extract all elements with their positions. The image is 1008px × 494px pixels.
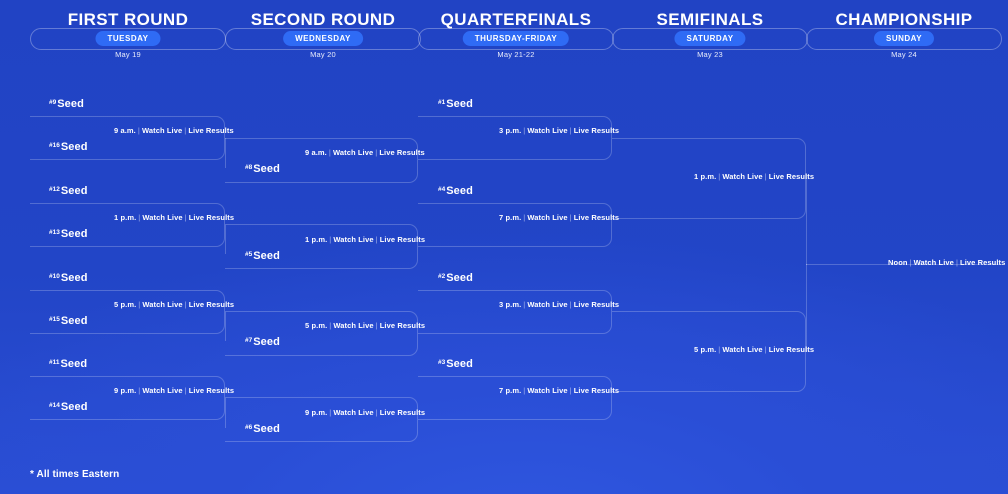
watch-live-link[interactable]: Watch Live bbox=[914, 258, 954, 267]
separator: | bbox=[185, 300, 187, 309]
joiner-r4-m2 bbox=[806, 264, 807, 352]
seed-text: Seed bbox=[61, 272, 88, 284]
round-header-championship: CHAMPIONSHIP SUNDAY May 24 bbox=[806, 10, 1002, 66]
seed-label[interactable]: #4Seed bbox=[438, 184, 473, 197]
match-time: 5 p.m. bbox=[694, 345, 716, 354]
match-info-row: 1 p.m.|Watch Live|Live Results bbox=[305, 235, 425, 245]
separator: | bbox=[375, 148, 377, 157]
separator: | bbox=[329, 235, 331, 244]
match-time: 9 p.m. bbox=[305, 408, 327, 417]
seed-text: Seed bbox=[253, 336, 280, 348]
match-time: 7 p.m. bbox=[499, 213, 521, 222]
separator: | bbox=[138, 213, 140, 222]
seed-number: #8 bbox=[245, 164, 252, 171]
seed-text: Seed bbox=[253, 250, 280, 262]
separator: | bbox=[523, 386, 525, 395]
watch-live-link[interactable]: Watch Live bbox=[142, 126, 182, 135]
match-time: 5 p.m. bbox=[114, 300, 136, 309]
seed-label[interactable]: #2Seed bbox=[438, 271, 473, 284]
match-time: 1 p.m. bbox=[114, 213, 136, 222]
match-time: 3 p.m. bbox=[499, 126, 521, 135]
separator: | bbox=[185, 213, 187, 222]
seed-label[interactable]: #6Seed bbox=[245, 422, 280, 435]
round-headers: FIRST ROUND TUESDAY May 19 SECOND ROUND … bbox=[0, 0, 1008, 66]
separator: | bbox=[329, 408, 331, 417]
round-day-badge: SUNDAY bbox=[874, 31, 934, 46]
live-results-link[interactable]: Live Results bbox=[380, 321, 425, 330]
match-time: 9 a.m. bbox=[305, 148, 327, 157]
match-info-row: 9 p.m.|Watch Live|Live Results bbox=[305, 408, 425, 418]
live-results-link[interactable]: Live Results bbox=[769, 345, 814, 354]
match-bracket-r3-m2 bbox=[418, 203, 612, 247]
separator: | bbox=[184, 126, 186, 135]
separator: | bbox=[523, 213, 525, 222]
separator: | bbox=[570, 213, 572, 222]
match-bracket-r1-m1 bbox=[30, 116, 225, 160]
match-bracket-r2-m4 bbox=[225, 397, 418, 442]
separator: | bbox=[765, 172, 767, 181]
seed-number: #14 bbox=[49, 402, 60, 409]
seed-number: #9 bbox=[49, 99, 56, 106]
seed-number: #5 bbox=[245, 251, 252, 258]
tournament-bracket-page: FIRST ROUND TUESDAY May 19 SECOND ROUND … bbox=[0, 0, 1008, 494]
joiner-r1-m3 bbox=[225, 312, 226, 341]
seed-number: #16 bbox=[49, 142, 60, 149]
round-date: May 21-22 bbox=[497, 50, 534, 60]
match-time: Noon bbox=[888, 258, 908, 267]
seed-label[interactable]: #9Seed bbox=[49, 97, 84, 110]
separator: | bbox=[570, 300, 572, 309]
seed-label[interactable]: #16Seed bbox=[49, 140, 88, 153]
watch-live-link[interactable]: Watch Live bbox=[527, 126, 567, 135]
match-info-row: 5 p.m.|Watch Live|Live Results bbox=[114, 300, 234, 310]
match-info-row: 1 p.m.|Watch Live|Live Results bbox=[114, 213, 234, 223]
seed-label[interactable]: #12Seed bbox=[49, 184, 88, 197]
seed-label[interactable]: #8Seed bbox=[245, 162, 280, 175]
match-bracket-r3-m1 bbox=[418, 116, 612, 160]
watch-live-link[interactable]: Watch Live bbox=[333, 408, 373, 417]
seed-label[interactable]: #14Seed bbox=[49, 400, 88, 413]
live-results-link[interactable]: Live Results bbox=[574, 300, 619, 309]
live-results-link[interactable]: Live Results bbox=[188, 126, 233, 135]
joiner-r4-m1 bbox=[806, 178, 807, 265]
separator: | bbox=[138, 386, 140, 395]
seed-text: Seed bbox=[446, 358, 473, 370]
round-date: May 23 bbox=[697, 50, 723, 60]
separator: | bbox=[138, 300, 140, 309]
separator: | bbox=[376, 235, 378, 244]
seed-text: Seed bbox=[61, 141, 88, 153]
seed-label[interactable]: #13Seed bbox=[49, 227, 88, 240]
live-results-link[interactable]: Live Results bbox=[380, 235, 425, 244]
match-info-row: 3 p.m.|Watch Live|Live Results bbox=[499, 300, 619, 310]
seed-text: Seed bbox=[446, 98, 473, 110]
separator: | bbox=[523, 126, 525, 135]
live-results-link[interactable]: Live Results bbox=[189, 300, 234, 309]
watch-live-link[interactable]: Watch Live bbox=[142, 213, 182, 222]
watch-live-link[interactable]: Watch Live bbox=[333, 235, 373, 244]
round-header-quarterfinals: QUARTERFINALS THURSDAY-FRIDAY May 21-22 bbox=[418, 10, 614, 66]
seed-label[interactable]: #7Seed bbox=[245, 335, 280, 348]
live-results-link[interactable]: Live Results bbox=[379, 148, 424, 157]
seed-text: Seed bbox=[57, 98, 84, 110]
watch-live-link[interactable]: Watch Live bbox=[527, 300, 567, 309]
round-date: May 24 bbox=[891, 50, 917, 60]
round-title: QUARTERFINALS bbox=[434, 10, 599, 29]
seed-label[interactable]: #15Seed bbox=[49, 314, 88, 327]
watch-live-link[interactable]: Watch Live bbox=[527, 386, 567, 395]
separator: | bbox=[910, 258, 912, 267]
seed-text: Seed bbox=[253, 163, 280, 175]
seed-number: #13 bbox=[49, 229, 60, 236]
joiner-r1-m1 bbox=[225, 138, 226, 168]
live-results-link[interactable]: Live Results bbox=[189, 213, 234, 222]
match-bracket-r1-m2 bbox=[30, 203, 225, 247]
live-results-link[interactable]: Live Results bbox=[574, 126, 619, 135]
round-title: SECOND ROUND bbox=[244, 10, 403, 29]
match-info-row: 9 p.m.|Watch Live|Live Results bbox=[114, 386, 234, 396]
match-info-row: 7 p.m.|Watch Live|Live Results bbox=[499, 386, 619, 396]
match-info-row: 5 p.m.|Watch Live|Live Results bbox=[305, 321, 425, 331]
live-results-link[interactable]: Live Results bbox=[574, 386, 619, 395]
watch-live-link[interactable]: Watch Live bbox=[142, 300, 182, 309]
seed-label[interactable]: #11Seed bbox=[49, 357, 87, 370]
live-results-link[interactable]: Live Results bbox=[189, 386, 234, 395]
round-header-first-round: FIRST ROUND TUESDAY May 19 bbox=[30, 10, 226, 66]
round-day-badge: TUESDAY bbox=[96, 31, 161, 46]
match-info-row: 1 p.m.|Watch Live|Live Results bbox=[694, 172, 814, 182]
seed-number: #1 bbox=[438, 99, 445, 106]
separator: | bbox=[570, 126, 572, 135]
watch-live-link[interactable]: Watch Live bbox=[722, 172, 762, 181]
match-time: 1 p.m. bbox=[305, 235, 327, 244]
seed-number: #7 bbox=[245, 337, 252, 344]
round-title: FIRST ROUND bbox=[61, 10, 196, 29]
seed-text: Seed bbox=[446, 185, 473, 197]
match-bracket-r2-m3 bbox=[225, 311, 418, 356]
round-date: May 19 bbox=[115, 50, 141, 60]
seed-number: #11 bbox=[49, 359, 60, 366]
match-bracket-r3-m4 bbox=[418, 376, 612, 420]
separator: | bbox=[138, 126, 140, 135]
match-info-row: Noon|Watch Live|Live Results bbox=[888, 258, 1005, 268]
seed-text: Seed bbox=[253, 423, 280, 435]
seed-number: #6 bbox=[245, 424, 252, 431]
live-results-link[interactable]: Live Results bbox=[960, 258, 1005, 267]
seed-text: Seed bbox=[61, 401, 88, 413]
seed-number: #3 bbox=[438, 359, 445, 366]
match-time: 9 a.m. bbox=[114, 126, 136, 135]
watch-live-link[interactable]: Watch Live bbox=[527, 213, 567, 222]
match-info-row: 3 p.m.|Watch Live|Live Results bbox=[499, 126, 619, 136]
watch-live-link[interactable]: Watch Live bbox=[333, 148, 373, 157]
round-day-badge: WEDNESDAY bbox=[283, 31, 363, 46]
match-time: 9 p.m. bbox=[114, 386, 136, 395]
separator: | bbox=[376, 321, 378, 330]
separator: | bbox=[329, 148, 331, 157]
separator: | bbox=[718, 345, 720, 354]
times-footnote: * All times Eastern bbox=[30, 469, 119, 481]
match-bracket-r3-m3 bbox=[418, 290, 612, 334]
separator: | bbox=[570, 386, 572, 395]
seed-text: Seed bbox=[61, 315, 88, 327]
match-time: 3 p.m. bbox=[499, 300, 521, 309]
match-time: 5 p.m. bbox=[305, 321, 327, 330]
seed-number: #15 bbox=[49, 316, 60, 323]
watch-live-link[interactable]: Watch Live bbox=[142, 386, 182, 395]
seed-text: Seed bbox=[446, 272, 473, 284]
separator: | bbox=[185, 386, 187, 395]
round-date: May 20 bbox=[310, 50, 336, 60]
live-results-link[interactable]: Live Results bbox=[574, 213, 619, 222]
seed-label[interactable]: #10Seed bbox=[49, 271, 88, 284]
joiner-r1-m2 bbox=[225, 225, 226, 254]
match-info-row: 9 a.m.|Watch Live|Live Results bbox=[114, 126, 234, 136]
seed-label[interactable]: #5Seed bbox=[245, 249, 280, 262]
round-header-second-round: SECOND ROUND WEDNESDAY May 20 bbox=[225, 10, 421, 66]
match-time: 7 p.m. bbox=[499, 386, 521, 395]
round-day-badge: THURSDAY-FRIDAY bbox=[463, 31, 569, 46]
seed-text: Seed bbox=[61, 228, 88, 240]
joiner-r1-m4 bbox=[225, 398, 226, 428]
seed-label[interactable]: #3Seed bbox=[438, 357, 473, 370]
match-info-row: 7 p.m.|Watch Live|Live Results bbox=[499, 213, 619, 223]
seed-number: #12 bbox=[49, 186, 60, 193]
match-bracket-r2-m1 bbox=[225, 138, 418, 183]
match-time: 1 p.m. bbox=[694, 172, 716, 181]
live-results-link[interactable]: Live Results bbox=[380, 408, 425, 417]
seed-label[interactable]: #1Seed bbox=[438, 97, 473, 110]
seed-text: Seed bbox=[61, 185, 88, 197]
seed-number: #4 bbox=[438, 186, 445, 193]
round-day-badge: SATURDAY bbox=[674, 31, 745, 46]
match-info-row: 5 p.m.|Watch Live|Live Results bbox=[694, 345, 814, 355]
round-title: CHAMPIONSHIP bbox=[828, 10, 979, 29]
round-title: SEMIFINALS bbox=[650, 10, 771, 29]
watch-live-link[interactable]: Watch Live bbox=[722, 345, 762, 354]
seed-number: #10 bbox=[49, 273, 60, 280]
separator: | bbox=[523, 300, 525, 309]
match-bracket-r2-m2 bbox=[225, 224, 418, 269]
live-results-link[interactable]: Live Results bbox=[769, 172, 814, 181]
separator: | bbox=[765, 345, 767, 354]
separator: | bbox=[376, 408, 378, 417]
match-info-row: 9 a.m.|Watch Live|Live Results bbox=[305, 148, 425, 158]
seed-text: Seed bbox=[61, 358, 88, 370]
match-bracket-r1-m4 bbox=[30, 376, 225, 420]
bracket-connector-lines bbox=[0, 0, 1008, 494]
separator: | bbox=[956, 258, 958, 267]
separator: | bbox=[329, 321, 331, 330]
seed-number: #2 bbox=[438, 273, 445, 280]
round-header-semifinals: SEMIFINALS SATURDAY May 23 bbox=[612, 10, 808, 66]
separator: | bbox=[718, 172, 720, 181]
match-bracket-r1-m3 bbox=[30, 290, 225, 334]
watch-live-link[interactable]: Watch Live bbox=[333, 321, 373, 330]
